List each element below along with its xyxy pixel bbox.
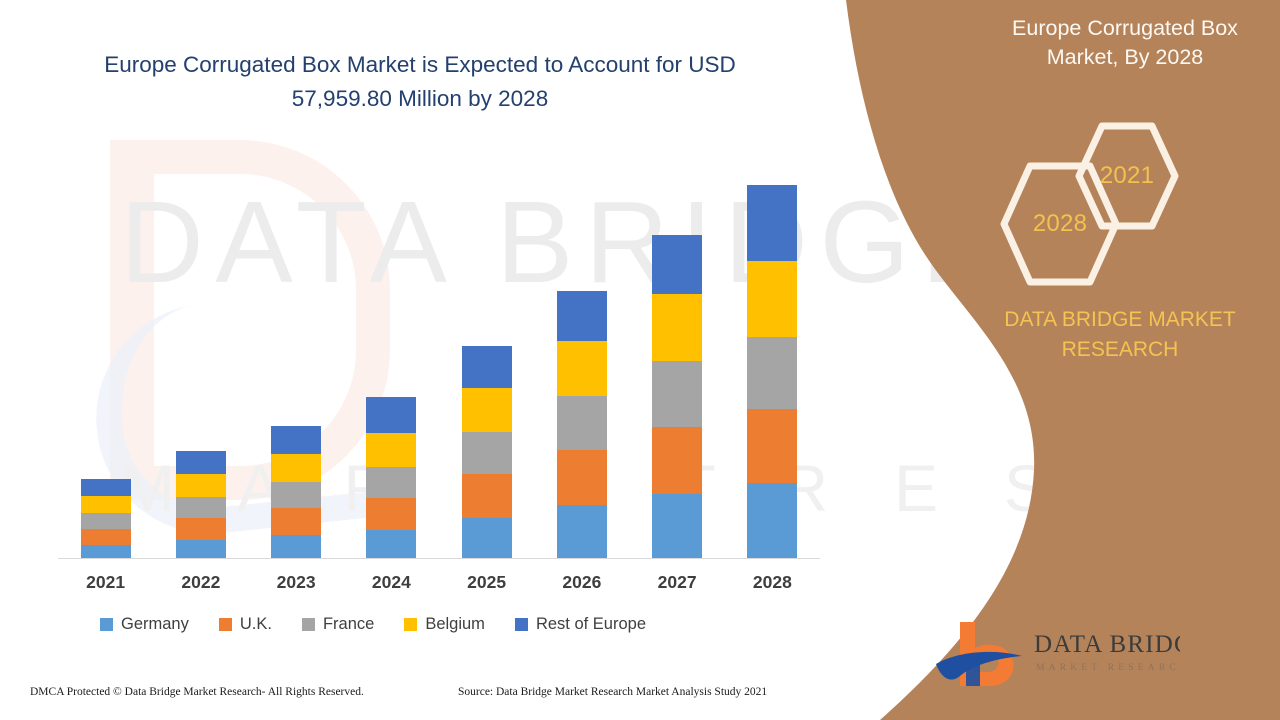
bar-segment <box>747 409 797 483</box>
stacked-bar-chart: 20212022202320242025202620272028 Germany… <box>0 0 860 720</box>
bar-segment <box>557 291 607 341</box>
bar-segment <box>652 494 702 559</box>
x-tick-label: 2021 <box>66 572 146 593</box>
bar-segment <box>81 529 131 545</box>
bar-group <box>176 451 226 559</box>
bar-group <box>557 291 607 559</box>
bar-segment <box>176 451 226 474</box>
bar-segment <box>366 498 416 530</box>
bar-segment <box>557 505 607 559</box>
x-axis-tick-labels: 20212022202320242025202620272028 <box>58 572 820 602</box>
bar-segment <box>366 530 416 559</box>
bar-segment <box>462 346 512 388</box>
bar-group <box>462 346 512 559</box>
legend-swatch-icon <box>100 618 113 631</box>
bar-segment <box>366 467 416 498</box>
bar-segment <box>271 508 321 535</box>
bar-segment <box>557 341 607 396</box>
bar-segment <box>747 483 797 559</box>
legend-label: Rest of Europe <box>536 615 646 634</box>
x-tick-label: 2027 <box>637 572 717 593</box>
legend-swatch-icon <box>302 618 315 631</box>
bar-segment <box>462 474 512 518</box>
bar-segment <box>462 388 512 432</box>
bar-segment <box>271 454 321 482</box>
bar-segment <box>271 482 321 508</box>
x-tick-label: 2025 <box>447 572 527 593</box>
infographic-canvas: DATA BRIDGE M A R K E T R E S E A R C H … <box>0 0 1280 720</box>
bar-segment <box>557 396 607 450</box>
bar-segment <box>176 540 226 559</box>
chart-plot-area <box>58 170 820 559</box>
bar-group <box>652 235 702 559</box>
legend-swatch-icon <box>404 618 417 631</box>
legend-swatch-icon <box>219 618 232 631</box>
legend-label: Germany <box>121 615 189 634</box>
bar-group <box>271 426 321 559</box>
x-tick-label: 2023 <box>256 572 336 593</box>
bar-segment <box>176 497 226 518</box>
bar-segment <box>366 433 416 467</box>
footer-source-note: Source: Data Bridge Market Research Mark… <box>458 686 767 698</box>
bar-segment <box>176 518 226 540</box>
footer-dmca-notice: DMCA Protected © Data Bridge Market Rese… <box>30 686 364 698</box>
legend-label: Belgium <box>425 615 485 634</box>
bar-segment <box>557 450 607 505</box>
legend-swatch-icon <box>515 618 528 631</box>
legend-item[interactable]: U.K. <box>219 615 272 634</box>
bar-segment <box>271 535 321 559</box>
bar-group <box>81 479 131 559</box>
bar-group <box>366 397 416 559</box>
legend-item[interactable]: Rest of Europe <box>515 615 646 634</box>
bar-segment <box>747 261 797 337</box>
legend-item[interactable]: Belgium <box>404 615 485 634</box>
bar-segment <box>81 545 131 559</box>
bar-segment <box>366 397 416 433</box>
x-tick-label: 2024 <box>351 572 431 593</box>
bar-segment <box>462 518 512 559</box>
chart-legend: GermanyU.K.FranceBelgiumRest of Europe <box>100 615 646 634</box>
bar-segment <box>747 185 797 261</box>
x-tick-label: 2028 <box>732 572 812 593</box>
legend-label: France <box>323 615 374 634</box>
x-tick-label: 2026 <box>542 572 622 593</box>
bar-segment <box>652 294 702 361</box>
bar-segment <box>81 496 131 513</box>
bar-segment <box>271 426 321 454</box>
bar-segment <box>652 361 702 427</box>
x-tick-label: 2022 <box>161 572 241 593</box>
bar-segment <box>652 427 702 494</box>
x-axis-line <box>58 558 820 559</box>
bar-segment <box>747 337 797 409</box>
legend-item[interactable]: Germany <box>100 615 189 634</box>
brand-panel <box>820 0 1280 720</box>
bar-segment <box>81 513 131 529</box>
bar-segment <box>652 235 702 294</box>
bar-group <box>747 185 797 559</box>
bar-segment <box>81 479 131 496</box>
bar-segment <box>176 474 226 497</box>
legend-label: U.K. <box>240 615 272 634</box>
legend-item[interactable]: France <box>302 615 374 634</box>
bar-segment <box>462 432 512 474</box>
